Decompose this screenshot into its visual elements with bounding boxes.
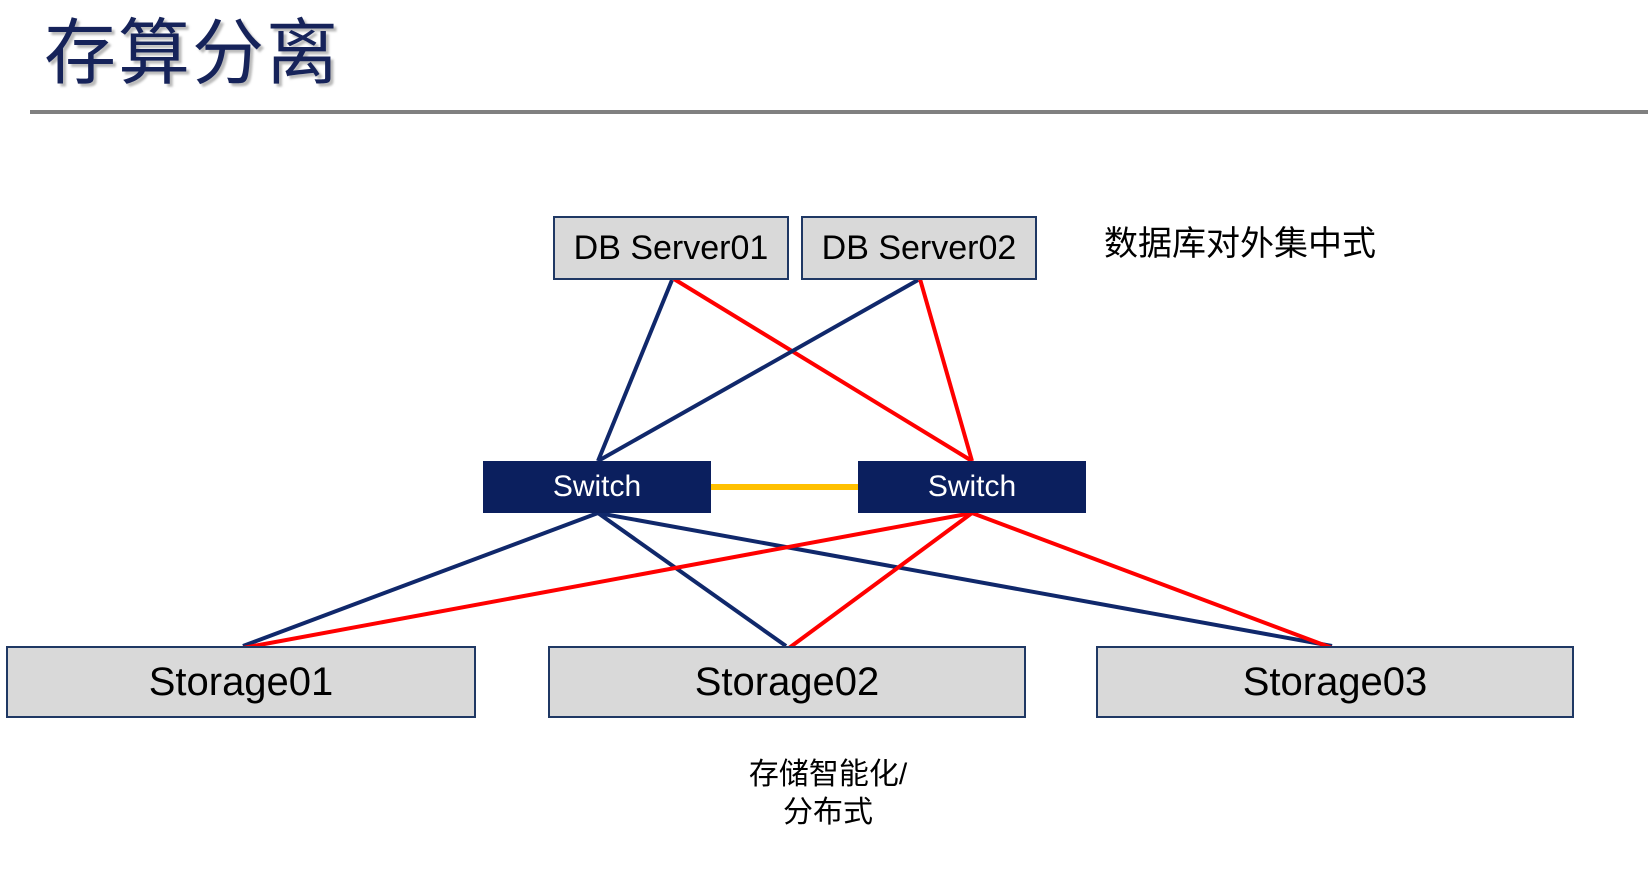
- node-storage-01[interactable]: Storage01: [6, 646, 476, 718]
- link-db-to-switch: [598, 280, 918, 461]
- link-switch-to-storage: [243, 513, 972, 648]
- connection-lines-layer: [0, 0, 1648, 886]
- annotation-database-centralized: 数据库对外集中式: [1104, 222, 1376, 266]
- node-label: Switch: [928, 470, 1016, 504]
- annotation-storage-intelligent: 存储智能化/ 分布式: [628, 756, 1028, 832]
- node-storage-02[interactable]: Storage02: [548, 646, 1026, 718]
- link-switch-to-storage: [243, 513, 598, 646]
- node-db-server-02[interactable]: DB Server02: [801, 216, 1037, 280]
- node-switch-01[interactable]: Switch: [483, 461, 711, 513]
- node-db-server-01[interactable]: DB Server01: [553, 216, 789, 280]
- link-switch-to-storage: [598, 513, 1332, 646]
- node-label: Storage01: [149, 660, 334, 705]
- node-storage-03[interactable]: Storage03: [1096, 646, 1574, 718]
- link-switch-to-storage: [789, 513, 972, 648]
- node-label: Switch: [553, 470, 641, 504]
- slide-canvas: 存算分离 DB Server01 DB Server02 Switch Swit…: [0, 0, 1648, 886]
- link-switch-to-storage: [598, 513, 786, 646]
- node-label: DB Server01: [574, 229, 769, 268]
- node-switch-02[interactable]: Switch: [858, 461, 1086, 513]
- link-switch-to-storage: [972, 513, 1332, 648]
- node-label: DB Server02: [822, 229, 1017, 268]
- node-label: Storage02: [695, 660, 880, 705]
- node-label: Storage03: [1243, 660, 1428, 705]
- link-db-to-switch: [598, 280, 672, 461]
